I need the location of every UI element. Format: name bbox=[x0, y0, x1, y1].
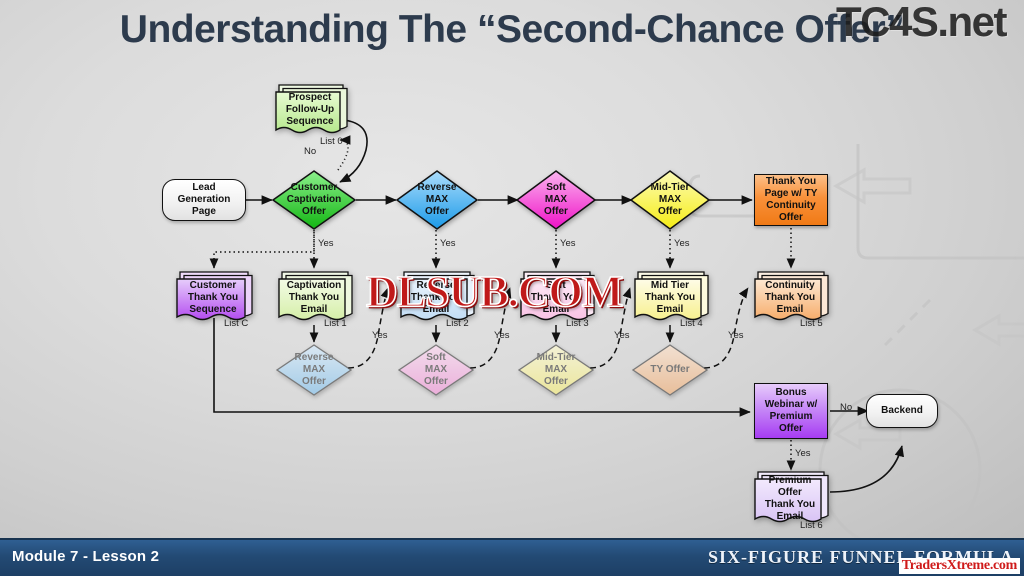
footer-bar: Module 7 - Lesson 2 SIX-FIGURE FUNNEL FO… bbox=[0, 538, 1024, 576]
node-mid-tier-max-offer-ghost[interactable]: Mid-Tier MAX Offer bbox=[518, 344, 594, 396]
edge-label-yes-premium: Yes bbox=[795, 448, 811, 459]
node-label: Soft MAX Offer bbox=[516, 170, 596, 230]
node-ty-offer-ghost[interactable]: TY Offer bbox=[632, 344, 708, 396]
node-customer-thank-you-sequence[interactable]: Customer Thank You Sequence bbox=[174, 270, 258, 324]
edge-label-yes-reverse: Yes bbox=[440, 238, 456, 249]
list-label-c: List C bbox=[224, 318, 248, 329]
footer-module-label: Module 7 - Lesson 2 bbox=[12, 548, 159, 565]
footer-brand-label: SIX-FIGURE FUNNEL FORMULA bbox=[708, 547, 1014, 568]
node-label: Captivation Thank You Email bbox=[279, 279, 349, 317]
edge-label-yes-midtier: Yes bbox=[674, 238, 690, 249]
node-mid-tier-max-offer[interactable]: Mid-Tier MAX Offer bbox=[630, 170, 710, 230]
node-label: Lead Generation Page bbox=[163, 180, 245, 220]
node-label: Customer Captivation Offer bbox=[272, 170, 356, 230]
node-reverse-thank-you-email[interactable]: Reverse Thank You Email bbox=[398, 270, 478, 324]
node-label: Reverse MAX Offer bbox=[276, 344, 352, 396]
node-label: Reverse MAX Offer bbox=[396, 170, 478, 230]
node-label: Mid Tier Thank You Email bbox=[635, 279, 705, 317]
edge-label-yes-branch-1: Yes bbox=[372, 330, 388, 341]
node-label: Premium Offer Thank You Email bbox=[755, 479, 825, 519]
edge-label-no-prospect: No bbox=[304, 146, 316, 157]
list-label-6: List 6 bbox=[800, 520, 823, 531]
edge-label-yes-captivation: Yes bbox=[318, 238, 334, 249]
list-label-4: List 4 bbox=[680, 318, 703, 329]
flow-connectors bbox=[0, 0, 1024, 576]
node-backend[interactable]: Backend bbox=[866, 394, 938, 428]
background-decoration bbox=[0, 0, 1024, 576]
node-prospect-follow-up-sequence[interactable]: Prospect Follow-Up Sequence bbox=[272, 82, 350, 136]
node-soft-thank-you-email[interactable]: Soft Thank You Email bbox=[518, 270, 598, 324]
node-premium-offer-thank-you-email[interactable]: Premium Offer Thank You Email bbox=[752, 470, 832, 526]
node-label: Soft Thank You Email bbox=[521, 279, 591, 317]
list-label-prospect: List 0 bbox=[320, 136, 343, 147]
list-label-5: List 5 bbox=[800, 318, 823, 329]
edge-label-yes-soft: Yes bbox=[560, 238, 576, 249]
node-label: Customer Thank You Sequence bbox=[177, 279, 249, 317]
node-soft-max-offer[interactable]: Soft MAX Offer bbox=[516, 170, 596, 230]
node-label: Bonus Webinar w/ Premium Offer bbox=[755, 384, 827, 438]
list-label-3: List 3 bbox=[566, 318, 589, 329]
edge-label-yes-branch-2: Yes bbox=[494, 330, 510, 341]
node-label: Continuity Thank You Email bbox=[755, 279, 825, 317]
edge-label-yes-branch-4: Yes bbox=[728, 330, 744, 341]
edge-label-no-backend: No bbox=[840, 402, 852, 413]
node-thank-you-page-continuity[interactable]: Thank You Page w/ TY Continuity Offer bbox=[754, 174, 828, 226]
list-label-1: List 1 bbox=[324, 318, 347, 329]
node-mid-tier-thank-you-email[interactable]: Mid Tier Thank You Email bbox=[632, 270, 712, 324]
list-label-2: List 2 bbox=[446, 318, 469, 329]
node-captivation-thank-you-email[interactable]: Captivation Thank You Email bbox=[276, 270, 356, 324]
node-label: TY Offer bbox=[632, 344, 708, 396]
node-label: Prospect Follow-Up Sequence bbox=[276, 90, 344, 130]
node-bonus-webinar[interactable]: Bonus Webinar w/ Premium Offer bbox=[754, 383, 828, 439]
node-label: Soft MAX Offer bbox=[398, 344, 474, 396]
edge-label-yes-branch-3: Yes bbox=[614, 330, 630, 341]
node-soft-max-offer-ghost[interactable]: Soft MAX Offer bbox=[398, 344, 474, 396]
slide-canvas: Understanding The “Second-Chance Offer” bbox=[0, 0, 1024, 576]
page-title: Understanding The “Second-Chance Offer” bbox=[0, 8, 1024, 52]
node-reverse-max-offer[interactable]: Reverse MAX Offer bbox=[396, 170, 478, 230]
node-label: Thank You Page w/ TY Continuity Offer bbox=[755, 175, 827, 225]
node-label: Reverse Thank You Email bbox=[401, 279, 471, 317]
node-label: Mid-Tier MAX Offer bbox=[630, 170, 710, 230]
node-customer-captivation-offer[interactable]: Customer Captivation Offer bbox=[272, 170, 356, 230]
node-label: Mid-Tier MAX Offer bbox=[518, 344, 594, 396]
node-reverse-max-offer-ghost[interactable]: Reverse MAX Offer bbox=[276, 344, 352, 396]
node-continuity-thank-you-email[interactable]: Continuity Thank You Email bbox=[752, 270, 832, 324]
node-lead-generation-page[interactable]: Lead Generation Page bbox=[162, 179, 246, 221]
node-label: Backend bbox=[867, 395, 937, 427]
